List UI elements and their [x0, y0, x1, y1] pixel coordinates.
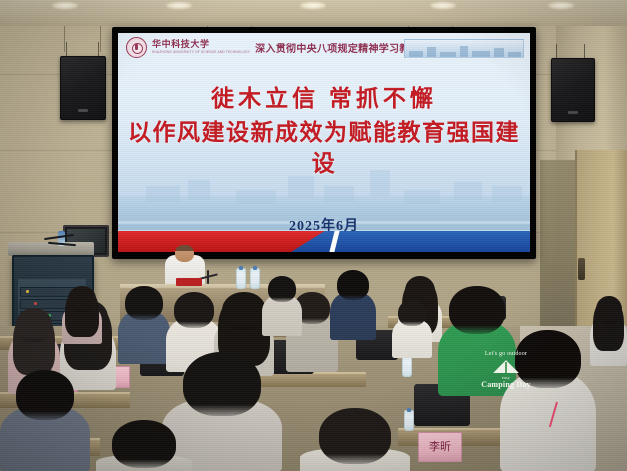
slide-title: 徙木立信 常抓不懈 以作风建设新成效为赋能教育强国建设: [118, 85, 530, 179]
ceiling-light: [548, 2, 574, 9]
person-head: [183, 352, 261, 416]
audience-member-13: [392, 300, 432, 358]
person-head: [112, 420, 176, 468]
audience-member-12: [0, 370, 90, 471]
audience-member-14: [590, 296, 627, 366]
camping-shirt-graphic: Let's go outdoor easy Camping Day: [474, 350, 538, 391]
slide-title-line2: 以作风建设新成效为赋能教育强国建设: [118, 117, 530, 179]
audience-member-18: [62, 286, 102, 344]
name-placard: 李昕: [418, 432, 462, 462]
audience-member-16: [300, 408, 410, 471]
tent-icon: [493, 360, 519, 373]
water-bottle: [236, 268, 246, 289]
person-head: [268, 276, 296, 302]
person-head: [174, 292, 214, 328]
university-seal-icon: [126, 37, 147, 58]
shirt-text-bottom: Camping Day: [474, 380, 538, 391]
header-decorative-strip: [404, 39, 524, 58]
presenter-head: [175, 245, 194, 262]
slide-title-line1: 徙木立信 常抓不懈: [118, 85, 530, 114]
person-head: [596, 296, 622, 324]
hanging-rod: [64, 26, 65, 52]
ceiling-light: [300, 2, 326, 9]
red-folder: [176, 278, 202, 286]
projection-screen: 华中科技大学 HUAZHONG UNIVERSITY OF SCIENCE AN…: [118, 33, 530, 252]
person-head: [68, 286, 96, 312]
hanging-rod: [100, 26, 101, 52]
microphone-stand-icon: [207, 270, 209, 284]
water-bottle: [250, 268, 260, 289]
person-head: [16, 370, 74, 420]
university-name: 华中科技大学: [152, 40, 250, 49]
person-head: [398, 300, 426, 326]
lecture-hall-photo: 华中科技大学 HUAZHONG UNIVERSITY OF SCIENCE AN…: [0, 0, 627, 471]
right-wall-speaker-icon: [551, 58, 595, 122]
university-subtitle: HUAZHONG UNIVERSITY OF SCIENCE AND TECHN…: [152, 51, 250, 54]
door-handle-icon[interactable]: [578, 258, 585, 280]
person-head: [222, 292, 266, 330]
ceiling-light: [52, 2, 78, 9]
shirt-text-top: Let's go outdoor: [474, 350, 538, 358]
ceiling-light: [166, 2, 192, 9]
person-head: [337, 270, 369, 300]
left-wall-speaker-icon: [60, 56, 106, 120]
ceiling-light: [430, 2, 456, 9]
audience-member-17: [96, 420, 192, 471]
audience-member-15: [262, 276, 302, 336]
water-bottle: [402, 356, 412, 377]
person-head: [125, 286, 163, 320]
right-wall-panel: [540, 160, 580, 340]
person-head: [16, 308, 52, 342]
person-head: [449, 286, 505, 334]
audience-member-7: [330, 270, 376, 340]
person-head: [319, 408, 391, 464]
